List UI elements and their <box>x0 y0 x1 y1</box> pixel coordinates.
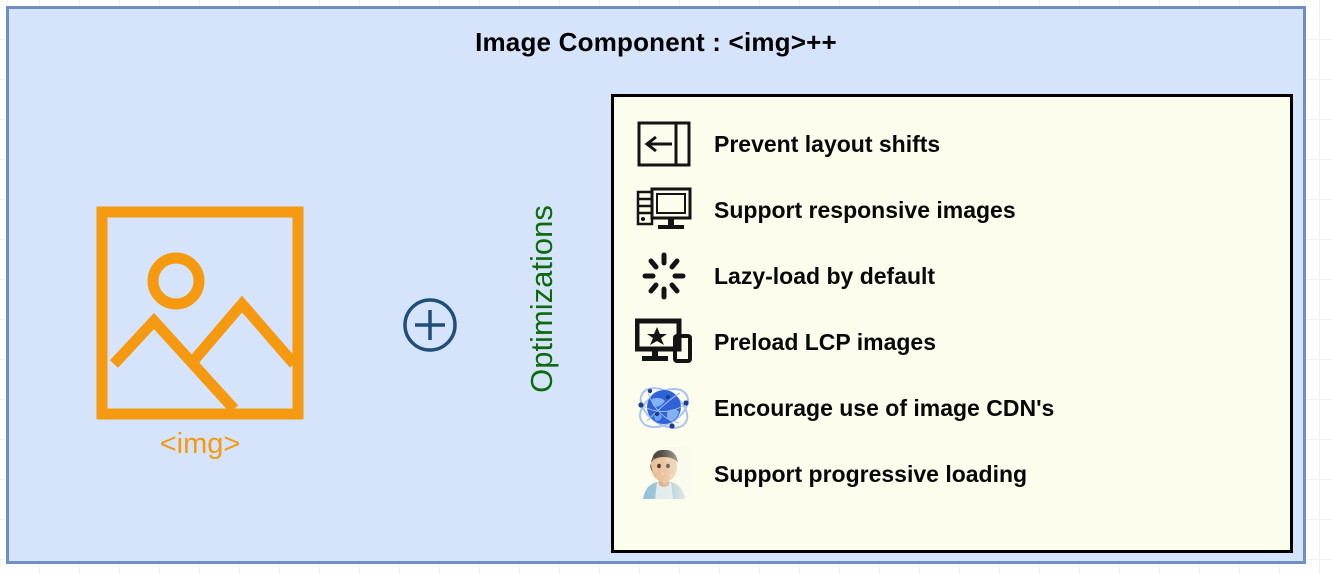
list-item-label: Support responsive images <box>714 197 1016 224</box>
optimizations-axis-label: Optimizations <box>524 169 564 429</box>
diagram-panel: Image Component : <img>++ <img> Optimiza… <box>6 6 1306 564</box>
image-component-caption: <img> <box>87 428 313 461</box>
image-placeholder-icon <box>94 204 306 422</box>
list-item-label: Support progressive loading <box>714 461 1027 488</box>
layout-shift-icon <box>628 116 700 172</box>
optimizations-list: Prevent layout shifts Support <box>611 94 1293 553</box>
list-item-label: Preload LCP images <box>714 329 936 356</box>
globe-network-icon <box>628 380 700 436</box>
plus-circle-icon <box>400 295 460 355</box>
list-item: Support responsive images <box>614 177 1290 243</box>
devices-star-icon <box>628 314 700 370</box>
list-item-label: Lazy-load by default <box>714 263 935 290</box>
list-item: Support progressive loading <box>614 441 1290 507</box>
loading-spinner-icon <box>628 248 700 304</box>
list-item: Lazy-load by default <box>614 243 1290 309</box>
list-item: Prevent layout shifts <box>614 111 1290 177</box>
list-item: Encourage use of image CDN's <box>614 375 1290 441</box>
list-item: Preload LCP images <box>614 309 1290 375</box>
list-item-label: Encourage use of image CDN's <box>714 395 1054 422</box>
page-title: Image Component : <img>++ <box>9 27 1303 58</box>
progressive-avatar-icon <box>628 446 700 502</box>
list-item-label: Prevent layout shifts <box>714 131 940 158</box>
image-component-node: <img> <box>87 204 313 461</box>
desktop-computer-icon <box>628 182 700 238</box>
